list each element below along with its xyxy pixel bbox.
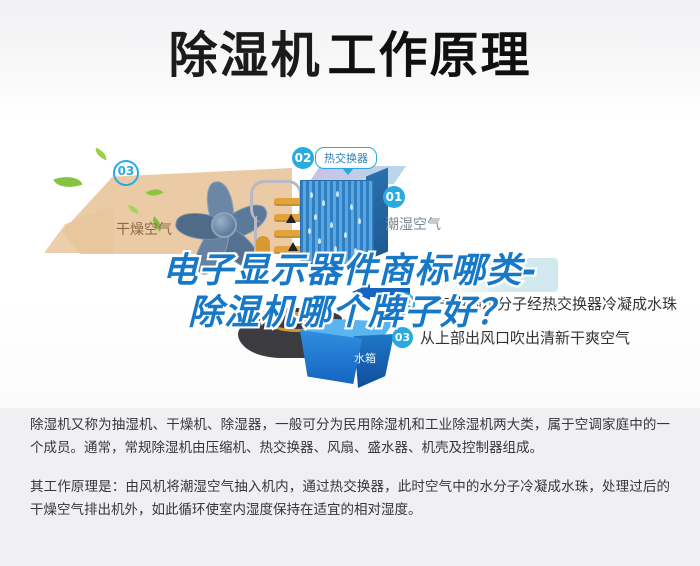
water-tank-label: 水箱: [354, 350, 376, 366]
fan-hub: [211, 212, 237, 238]
receiver-tank-graphic: [256, 236, 270, 266]
step-number-badge: 03: [392, 327, 413, 348]
badge-02-heat-exchanger: 02: [292, 147, 314, 169]
step-text: 从上部出风口吹出清新干爽空气: [420, 327, 630, 348]
page-title: 除湿机工作原理: [0, 28, 700, 84]
caption-humid-air: 潮湿空气: [385, 214, 441, 234]
badge-03-dry-air: 03: [113, 160, 139, 186]
page-root: 除湿机工作原理: [0, 0, 700, 566]
step-list: 02 空气中的水分子经热交换器冷凝成水珠 03 从上部出风口吹出清新干爽空气: [392, 292, 692, 360]
flow-arrow-up-icon: [286, 214, 296, 223]
paragraph-1: 除湿机又称为抽湿机、干燥机、除湿器，一般可分为民用除湿机和工业除湿机两大类，属于…: [30, 414, 670, 460]
step-text: 空气中的水分子经热交换器冷凝成水珠: [422, 293, 677, 314]
water-tank-graphic: 水箱: [300, 318, 398, 390]
list-item: 03 从上部出风口吹出清新干爽空气: [392, 327, 692, 348]
flow-arrow-up-icon: [288, 242, 298, 251]
water-tank-front: [300, 330, 362, 384]
article-body: 除湿机又称为抽湿机、干燥机、除湿器，一般可分为民用除湿机和工业除湿机两大类，属于…: [0, 414, 700, 538]
dry-air-arrow-tail-graphic: [44, 205, 114, 253]
caption-dry-air: 干燥空气: [116, 219, 172, 239]
badge-01-humid-air: 01: [383, 186, 405, 208]
paragraph-2: 其工作原理是：由风机将潮湿空气抽入机内，通过热交换器，此时空气中的水分子冷凝成水…: [30, 476, 670, 522]
title-part-2: 工作原理: [328, 27, 532, 84]
humid-air-sweep-tail: [438, 258, 558, 292]
title-part-1: 除湿机: [168, 27, 321, 84]
step-number-badge: 02: [392, 292, 415, 315]
list-item: 02 空气中的水分子经热交换器冷凝成水珠: [392, 292, 692, 315]
infographic-card: 除湿机工作原理: [0, 0, 700, 408]
condensation-droplets: [304, 188, 370, 258]
leaf-icon: [93, 148, 109, 161]
leaf-icon: [53, 171, 82, 192]
callout-heat-exchanger: 热交换器: [315, 147, 377, 169]
